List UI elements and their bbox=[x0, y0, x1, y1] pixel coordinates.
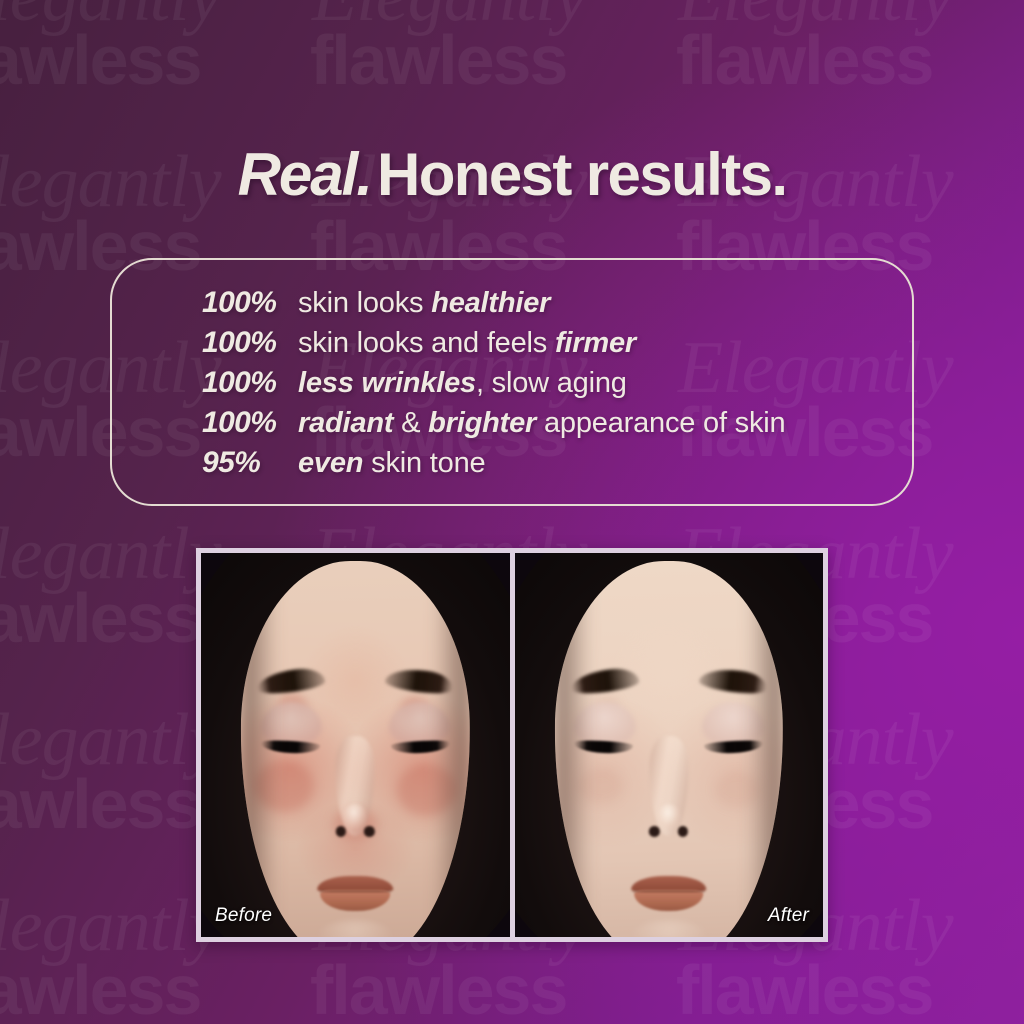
claim-text-emphasis: brighter bbox=[428, 407, 536, 439]
face-shadow-left bbox=[241, 561, 278, 937]
lower-lip bbox=[634, 890, 703, 911]
watermark-elegantly: Elegantly bbox=[0, 0, 221, 39]
watermark-flawless: flawless bbox=[676, 20, 932, 100]
after-label: After bbox=[768, 905, 809, 927]
face bbox=[555, 561, 783, 937]
claim-description: skin looks healthier bbox=[298, 287, 550, 320]
claim-percentage: 100% bbox=[202, 286, 298, 320]
claim-text-emphasis: radiant bbox=[298, 407, 393, 439]
claim-text-emphasis: healthier bbox=[431, 287, 550, 319]
claim-description: skin looks and feels firmer bbox=[298, 327, 636, 360]
claim-text-suffix: skin tone bbox=[363, 447, 485, 479]
face bbox=[241, 561, 469, 937]
nostril-right bbox=[678, 826, 689, 836]
claim-text-emphasis: even bbox=[298, 447, 363, 479]
claim-row: 95%even skin tone bbox=[202, 446, 892, 486]
claim-percentage: 100% bbox=[202, 366, 298, 400]
face-shadow-right bbox=[433, 561, 470, 937]
nostril-left bbox=[336, 826, 347, 836]
lower-lip bbox=[321, 890, 390, 911]
watermark-tile: Elegantlyflawless bbox=[0, 0, 306, 146]
before-after-comparison: Before bbox=[196, 548, 828, 942]
watermark-elegantly: Elegantly bbox=[0, 512, 221, 597]
face-shadow-left bbox=[555, 561, 592, 937]
watermark-elegantly: Elegantly bbox=[312, 0, 587, 39]
nose-tip bbox=[657, 804, 680, 828]
nose-tip bbox=[344, 804, 367, 828]
claim-text-suffix: , slow aging bbox=[476, 367, 627, 399]
watermark-elegantly: Elegantly bbox=[678, 0, 953, 39]
claim-percentage: 100% bbox=[202, 326, 298, 360]
before-photo: Before bbox=[201, 553, 510, 937]
after-face-image bbox=[515, 553, 824, 937]
lips bbox=[631, 876, 706, 910]
nostril-right bbox=[364, 826, 375, 836]
watermark-tile: Elegantlyflawless bbox=[672, 0, 1024, 146]
before-label: Before bbox=[215, 905, 272, 927]
watermark-flawless: flawless bbox=[0, 20, 200, 100]
watermark-flawless: flawless bbox=[676, 950, 932, 1024]
watermark-tile: Elegantlyflawless bbox=[306, 0, 672, 146]
watermark-flawless: flawless bbox=[310, 950, 566, 1024]
promo-graphic: ElegantlyflawlessElegantlyflawlessElegan… bbox=[0, 0, 1024, 1024]
before-face-image bbox=[201, 553, 510, 937]
watermark-elegantly: Elegantly bbox=[0, 884, 221, 969]
watermark-flawless: flawless bbox=[0, 950, 200, 1024]
claim-text-emphasis: less wrinkles bbox=[298, 367, 476, 399]
claim-percentage: 95% bbox=[202, 446, 298, 480]
nostril-left bbox=[649, 826, 660, 836]
claim-description: radiant & brighter appearance of skin bbox=[298, 407, 785, 440]
after-photo: After bbox=[515, 553, 824, 937]
lips bbox=[318, 876, 393, 910]
claim-row: 100%less wrinkles, slow aging bbox=[202, 366, 892, 406]
watermark-flawless: flawless bbox=[0, 764, 200, 844]
watermark-elegantly: Elegantly bbox=[0, 698, 221, 783]
claim-percentage: 100% bbox=[202, 406, 298, 440]
claim-text-suffix: appearance of skin bbox=[536, 407, 785, 439]
watermark-flawless: flawless bbox=[310, 20, 566, 100]
claims-panel: 100%skin looks healthier100%skin looks a… bbox=[110, 258, 914, 506]
claim-row: 100%skin looks and feels firmer bbox=[202, 326, 892, 366]
headline-emphasis: Real. bbox=[238, 141, 377, 208]
claim-text-prefix: skin looks bbox=[298, 287, 431, 319]
claims-list: 100%skin looks healthier100%skin looks a… bbox=[202, 286, 892, 486]
claim-text-emphasis: firmer bbox=[555, 327, 636, 359]
claim-description: even skin tone bbox=[298, 447, 485, 480]
claim-text-connector: & bbox=[393, 407, 428, 439]
claim-row: 100%radiant & brighter appearance of ski… bbox=[202, 406, 892, 446]
claim-description: less wrinkles, slow aging bbox=[298, 367, 627, 400]
page-title: Real.Honest results. bbox=[0, 140, 1024, 209]
face-shadow-right bbox=[746, 561, 783, 937]
claim-row: 100%skin looks healthier bbox=[202, 286, 892, 326]
headline-rest: Honest results. bbox=[377, 141, 786, 208]
watermark-flawless: flawless bbox=[0, 578, 200, 658]
claim-text-prefix: skin looks and feels bbox=[298, 327, 555, 359]
